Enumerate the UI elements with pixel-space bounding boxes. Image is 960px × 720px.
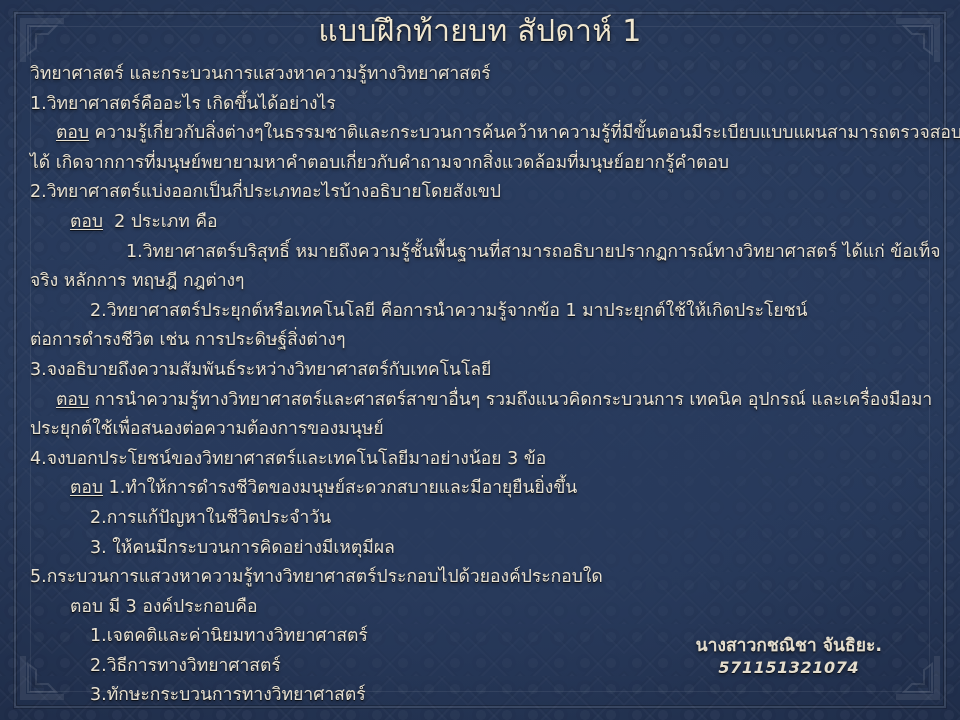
question-text: 5.กระบวนการแสวงหาความรู้ทางวิทยาศาสตร์ปร…: [30, 563, 938, 593]
question-text: 1.วิทยาศาสตร์คืออะไร เกิดขึ้นได้อย่างไร: [30, 90, 938, 120]
question-text: 3.จงอธิบายถึงความสัมพันธ์ระหว่างวิทยาศาส…: [30, 356, 938, 386]
answer-line: ตอบ การนำความรู้ทางวิทยาศาสตร์และศาสตร์ส…: [30, 386, 938, 416]
sub-answer-line: จริง หลักการ ทฤษฎี กฎต่างๆ: [30, 267, 938, 297]
signature-block: นางสาวกชณิชา จันธิยะ. 571151321074: [696, 635, 882, 678]
answer-text: 1.ทำให้การดำรงชีวิตของมนุษย์สะดวกสบายและ…: [109, 478, 578, 498]
slide-body: วิทยาศาสตร์ และกระบวนการแสวงหาความรู้ทาง…: [30, 60, 938, 711]
answer-line: ประยุกต์ใช้เพื่อสนองต่อความต้องการของมนุ…: [30, 415, 938, 445]
signature-student-id: 571151321074: [696, 657, 882, 678]
answer-line: ตอบ 1.ทำให้การดำรงชีวิตของมนุษย์สะดวกสบา…: [30, 474, 938, 504]
sub-answer-line: ต่อการดำรงชีวิต เช่น การประดิษฐ์สิ่งต่าง…: [30, 326, 938, 356]
answer-label: ตอบ: [56, 390, 89, 410]
answer-label: ตอบ: [70, 478, 103, 498]
answer-item: 3.ทักษะกระบวนการทางวิทยาศาสตร์: [30, 681, 938, 711]
answer-label: ตอบ: [56, 123, 89, 143]
answer-item: 2.การแก้ปัญหาในชีวิตประจำวัน: [30, 504, 938, 534]
answer-line: ตอบ ความรู้เกี่ยวกับสิ่งต่างๆในธรรมชาติแ…: [30, 119, 938, 149]
answer-label: ตอบ: [70, 597, 103, 617]
question-text: 4.จงบอกประโยชน์ของวิทยาศาสตร์และเทคโนโลย…: [30, 445, 938, 475]
answer-text: มี 3 องค์ประกอบคือ: [109, 597, 258, 617]
section-heading: วิทยาศาสตร์ และกระบวนการแสวงหาความรู้ทาง…: [30, 60, 938, 90]
question-text: 2.วิทยาศาสตร์แบ่งออกเป็นกี่ประเภทอะไรบ้า…: [30, 178, 938, 208]
answer-text: การนำความรู้ทางวิทยาศาสตร์และศาสตร์สาขาอ…: [95, 390, 933, 410]
answer-line: ได้ เกิดจากการที่มนุษย์พยายามหาคำตอบเกี่…: [30, 149, 938, 179]
answer-label: ตอบ: [70, 212, 103, 232]
answer-item: 3. ให้คนมีกระบวนการคิดอย่างมีเหตุมีผล: [30, 534, 938, 564]
answer-line: ตอบ 2 ประเภท คือ: [30, 208, 938, 238]
sub-answer-line: 1.วิทยาศาสตร์บริสุทธิ์ หมายถึงความรู้ชั้…: [30, 238, 938, 268]
sub-answer-line: 2.วิทยาศาสตร์ประยุกต์หรือเทคโนโลยี คือกา…: [30, 297, 938, 327]
signature-name: นางสาวกชณิชา จันธิยะ.: [696, 635, 882, 657]
answer-line: ตอบ มี 3 องค์ประกอบคือ: [30, 593, 938, 623]
slide-canvas: แบบฝึกท้ายบท สัปดาห์ 1 วิทยาศาสตร์ และกร…: [0, 0, 960, 720]
slide-title: แบบฝึกท้ายบท สัปดาห์ 1: [0, 14, 960, 50]
answer-text: 2 ประเภท คือ: [114, 212, 217, 232]
answer-text: ความรู้เกี่ยวกับสิ่งต่างๆในธรรมชาติและกร…: [95, 123, 960, 143]
